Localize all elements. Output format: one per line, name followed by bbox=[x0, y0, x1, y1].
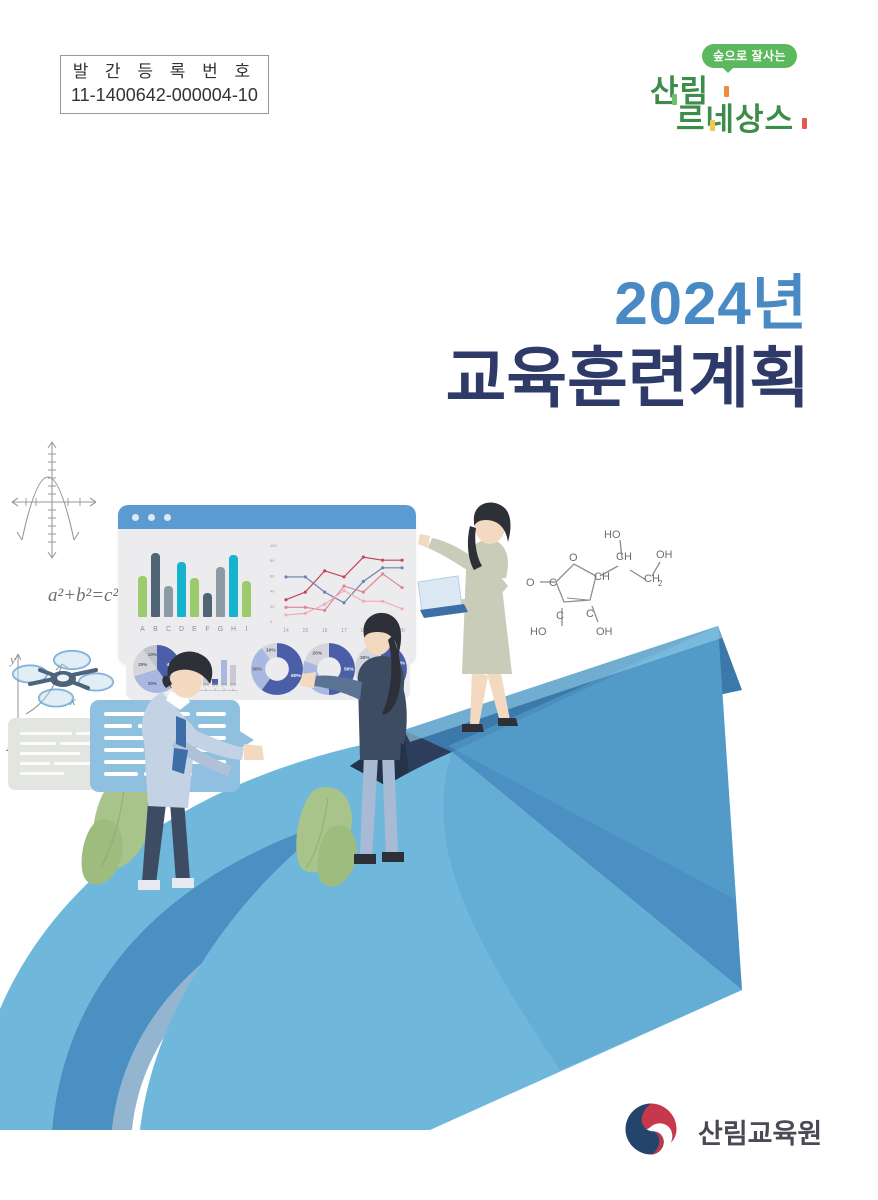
registration-number: 11-1400642-000004-10 bbox=[71, 84, 258, 107]
logo-accent-dot-yellow bbox=[710, 120, 715, 131]
publication-registration-box: 발 간 등 록 번 호 11-1400642-000004-10 bbox=[60, 55, 269, 114]
institute-logo: 산림교육원 bbox=[622, 1098, 852, 1162]
registration-label: 발 간 등 록 번 호 bbox=[71, 61, 258, 84]
logo-line-2: 르네상스 bbox=[676, 94, 794, 139]
person-man-presenting bbox=[0, 430, 878, 1130]
logo-bubble-text: 숲으로 잘사는 bbox=[702, 44, 797, 68]
cover-title-main: 교육훈련계획 bbox=[446, 325, 810, 421]
logo-accent-dot-green bbox=[672, 94, 677, 105]
institute-name: 산림교육원 bbox=[698, 1112, 822, 1151]
government-emblem-icon bbox=[622, 1100, 680, 1158]
cover-illustration: a²+b²=c² y x E=mc² bbox=[0, 430, 878, 1130]
logo-accent-dot-orange bbox=[724, 86, 729, 97]
forest-renaissance-logo: 숲으로 잘사는 산림 르네상스 bbox=[650, 42, 830, 134]
document-cover-page: 발 간 등 록 번 호 11-1400642-000004-10 숲으로 잘사는… bbox=[0, 0, 878, 1200]
logo-accent-dot-red bbox=[802, 118, 807, 129]
